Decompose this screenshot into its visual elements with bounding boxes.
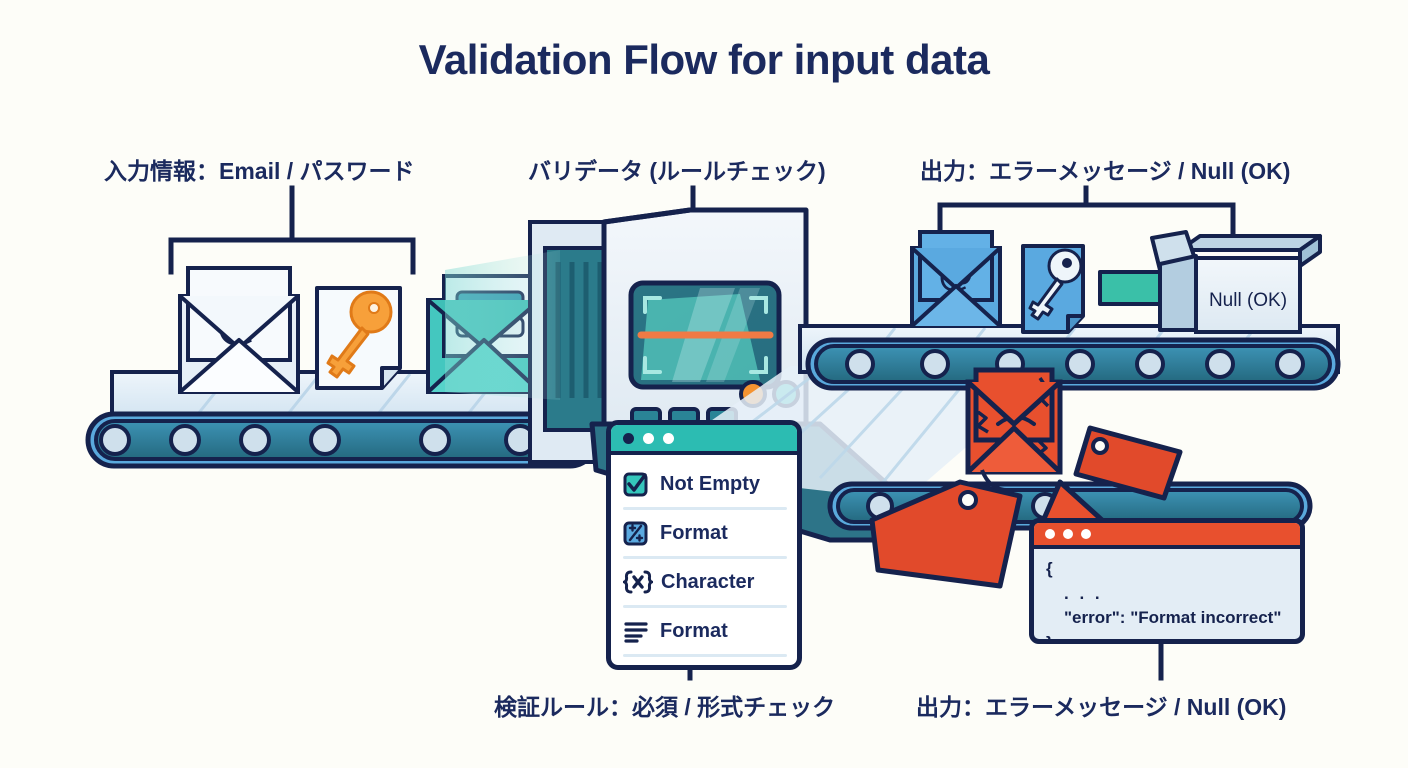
envelope-email-input: @ — [180, 268, 298, 392]
window-dot-1 — [623, 433, 634, 444]
rule-label: Format — [660, 522, 728, 545]
document-key-input — [317, 288, 400, 388]
json-line-close: } — [1046, 631, 1288, 644]
error-panel-titlebar — [1034, 523, 1300, 549]
scanner-screen — [631, 283, 779, 387]
json-line-ellipsis: . . . — [1046, 582, 1288, 607]
null-ok-box-label: Null (OK) — [1209, 290, 1287, 311]
rule-label: Not Empty — [660, 473, 760, 496]
error-envelope — [968, 370, 1060, 490]
checkbox-icon — [623, 471, 649, 497]
rule-item-not-empty[interactable]: Not Empty — [623, 461, 787, 507]
braces-x-icon — [623, 569, 653, 595]
rule-item-character[interactable]: Character — [623, 559, 787, 605]
window-dot-3 — [1081, 529, 1091, 539]
window-dot-2 — [643, 433, 654, 444]
window-dot-2 — [1063, 529, 1073, 539]
rule-item-format-lines[interactable]: Format — [623, 608, 787, 654]
list-lines-icon — [623, 618, 649, 644]
error-json-panel[interactable]: { . . . "error": "Format incorrect" } — [1029, 518, 1305, 644]
rule-item-format-calc[interactable]: Format — [623, 510, 787, 556]
json-line-open: { — [1046, 557, 1288, 582]
conveyor-main-right — [800, 326, 1338, 388]
null-ok-box: Null (OK) — [1152, 232, 1320, 332]
window-dot-1 — [1045, 529, 1055, 539]
diagram-canvas: Validation Flow for input data 入力情報：Emai… — [0, 0, 1408, 768]
rule-label: Character — [661, 571, 754, 594]
json-line-error: "error": "Format incorrect" — [1046, 606, 1288, 631]
rules-panel[interactable]: Not Empty Format Character — [606, 420, 802, 670]
window-dot-3 — [663, 433, 674, 444]
rule-divider — [623, 654, 787, 657]
rule-label: Format — [660, 620, 728, 643]
bracket-input — [171, 188, 413, 272]
format-calc-icon — [623, 520, 649, 546]
envelope-email-output: @ — [912, 232, 1000, 326]
document-key-output — [1023, 246, 1083, 332]
rules-panel-titlebar — [611, 425, 797, 455]
